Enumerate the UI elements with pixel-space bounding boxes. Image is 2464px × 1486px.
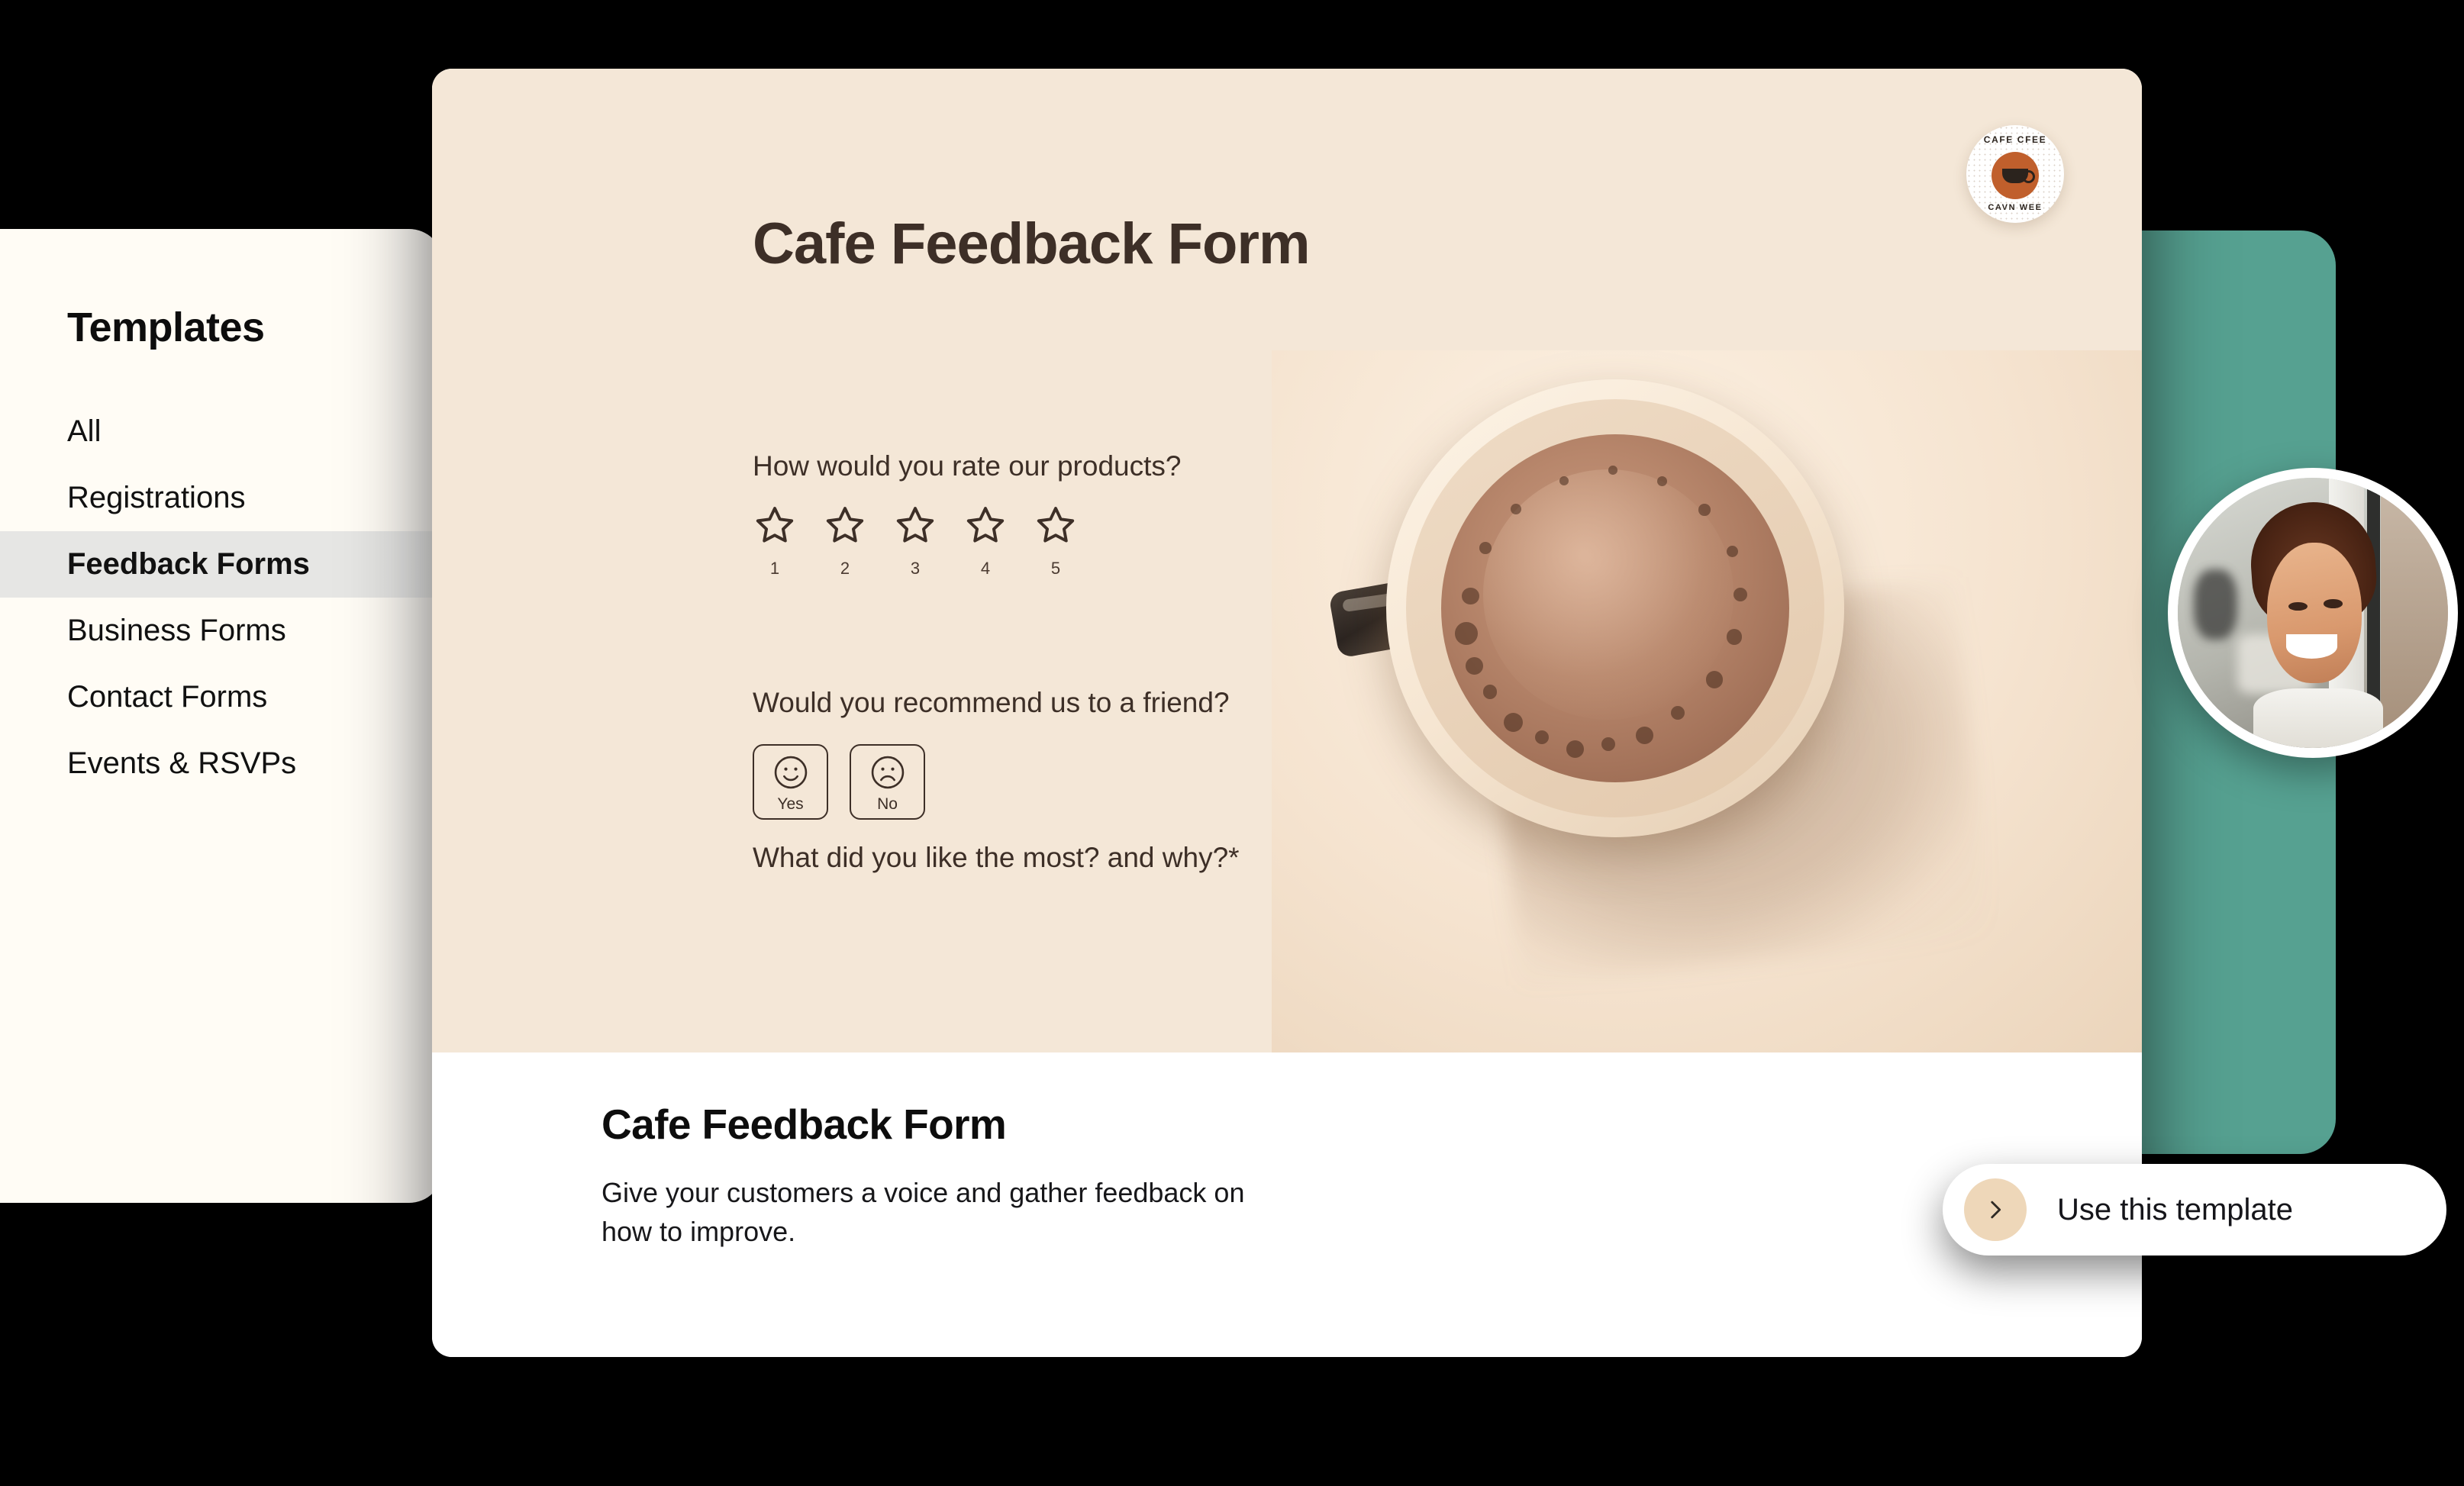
recommend-option-label: Yes — [777, 796, 803, 812]
star-icon — [963, 504, 1008, 546]
coffee-cup-icon — [1992, 152, 2039, 199]
logo-bottom-text: CAVN WEE — [1966, 203, 2064, 212]
star-icon — [893, 504, 937, 546]
recommend-option-no[interactable]: No — [850, 744, 925, 820]
sidebar-title: Templates — [67, 304, 265, 351]
logo-top-text: CAFE CFEE — [1966, 134, 2064, 145]
sidebar-item-label: Events & RSVPs — [67, 746, 296, 781]
star-rating-number: 5 — [1051, 559, 1060, 579]
template-title: Cafe Feedback Form — [601, 1100, 2142, 1149]
smiley-sad-icon — [868, 753, 908, 792]
recommend-option-yes[interactable]: Yes — [753, 744, 828, 820]
star-rating-2[interactable]: 2 — [823, 504, 867, 579]
chevron-right-icon — [1964, 1178, 2027, 1241]
avatar — [2168, 468, 2458, 758]
recommend-option-label: No — [877, 796, 898, 812]
cafe-logo-badge: CAFE CFEE CAVN WEE — [1966, 125, 2064, 223]
sidebar-item-business-forms[interactable]: Business Forms — [0, 598, 443, 664]
star-rating-number: 4 — [981, 559, 990, 579]
sidebar-item-all[interactable]: All — [0, 398, 443, 465]
sidebar-item-feedback-forms[interactable]: Feedback Forms — [0, 531, 443, 598]
template-description: Give your customers a voice and gather f… — [601, 1173, 1288, 1251]
sidebar-item-label: Registrations — [67, 481, 245, 515]
sidebar-item-label: All — [67, 414, 101, 449]
use-this-template-label: Use this template — [2057, 1193, 2293, 1227]
question-open-label: What did you like the most? and why?* — [753, 842, 1240, 874]
star-icon — [823, 504, 867, 546]
star-rating-group: 1 2 3 — [753, 504, 1078, 579]
sidebar-item-registrations[interactable]: Registrations — [0, 465, 443, 531]
coffee-cup-photo — [1272, 350, 2142, 1052]
star-rating-3[interactable]: 3 — [893, 504, 937, 579]
use-this-template-button[interactable]: Use this template — [1943, 1164, 2446, 1256]
templates-sidebar: Templates All Registrations Feedback For… — [0, 229, 443, 1203]
star-icon — [1034, 504, 1078, 546]
avatar-photo — [2178, 478, 2448, 748]
star-rating-1[interactable]: 1 — [753, 504, 797, 579]
sidebar-item-label: Feedback Forms — [67, 547, 310, 582]
sidebar-item-contact-forms[interactable]: Contact Forms — [0, 664, 443, 730]
question-rating-label: How would you rate our products? — [753, 450, 1181, 482]
recommend-option-group: Yes No — [753, 744, 925, 820]
screen: Templates All Registrations Feedback For… — [0, 0, 2464, 1486]
star-rating-4[interactable]: 4 — [963, 504, 1008, 579]
form-title: Cafe Feedback Form — [753, 211, 1310, 277]
star-rating-number: 3 — [911, 559, 920, 579]
star-rating-number: 2 — [840, 559, 850, 579]
form-preview-area: CAFE CFEE CAVN WEE Cafe Feedback Form Ho… — [432, 69, 2142, 1052]
template-info-strip: Cafe Feedback Form Give your customers a… — [432, 1052, 2142, 1357]
star-rating-number: 1 — [770, 559, 779, 579]
templates-nav: All Registrations Feedback Forms Busines… — [0, 398, 443, 797]
sidebar-item-events-rsvps[interactable]: Events & RSVPs — [0, 730, 443, 797]
star-rating-5[interactable]: 5 — [1034, 504, 1078, 579]
sidebar-item-label: Contact Forms — [67, 680, 267, 714]
smiley-happy-icon — [771, 753, 811, 792]
template-preview-card: CAFE CFEE CAVN WEE Cafe Feedback Form Ho… — [432, 69, 2142, 1357]
question-recommend-label: Would you recommend us to a friend? — [753, 687, 1230, 719]
sidebar-item-label: Business Forms — [67, 614, 286, 648]
star-icon — [753, 504, 797, 546]
